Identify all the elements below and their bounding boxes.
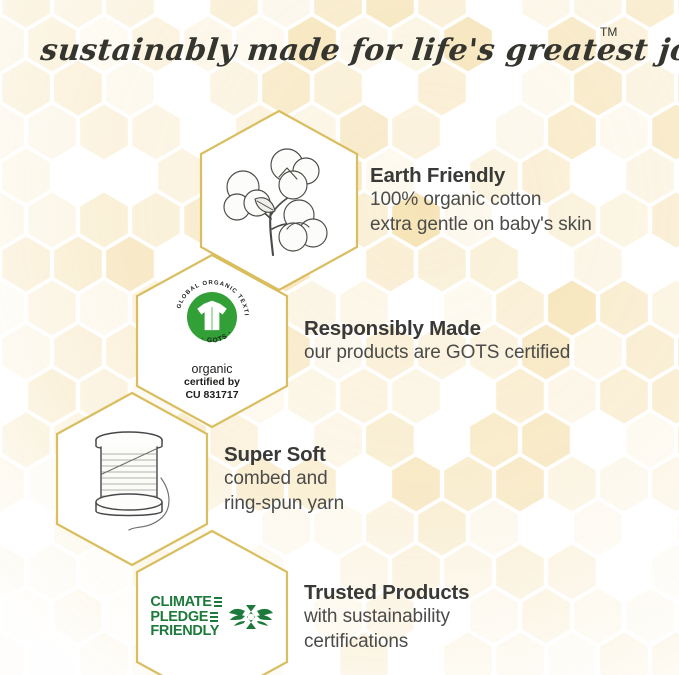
feature-line-2: ring-spun yarn	[224, 492, 344, 517]
climate-pledge-friendly-text: CLIMATE PLEDGE FRIENDLY	[150, 595, 221, 639]
cpf-line-2: PLEDGE	[150, 610, 208, 625]
trademark-symbol: TM	[600, 25, 617, 39]
marketing-infographic: sustainably made for life's greatest joy…	[0, 0, 679, 675]
feature-copy-responsibly-made: Responsibly Made our products are GOTS c…	[304, 316, 570, 366]
cpf-bars-icon	[214, 597, 222, 607]
feature-line-1: our products are GOTS certified	[304, 341, 570, 366]
feature-title: Trusted Products	[304, 580, 469, 605]
climate-pledge-friendly-icon: CLIMATE PLEDGE FRIENDLY	[150, 595, 273, 639]
feature-line-1: 100% organic cotton	[370, 188, 592, 213]
feature-line-1: with sustainability	[304, 605, 469, 630]
feature-copy-super-soft: Super Soft combed and ring-spun yarn	[224, 442, 344, 516]
page-title-text: sustainably made for life's greatest joy	[37, 33, 679, 68]
feature-line-2: certifications	[304, 630, 469, 655]
cpf-line-3: FRIENDLY	[150, 624, 219, 639]
feature-line-2: extra gentle on baby's skin	[370, 213, 592, 238]
winged-hourglass-icon	[228, 597, 274, 637]
gots-organic-label: organic	[192, 362, 233, 376]
page-title: sustainably made for life's greatest joy…	[0, 18, 679, 78]
feature-copy-earth-friendly: Earth Friendly 100% organic cotton extra…	[370, 163, 592, 237]
feature-trusted-products: CLIMATE PLEDGE FRIENDLY	[132, 528, 469, 675]
feature-line-1: combed and	[224, 467, 344, 492]
cpf-line-1: CLIMATE	[150, 595, 211, 610]
gots-seal-icon: GLOBAL ORGANIC TEXTILE STANDARD · GOTS ·	[171, 276, 253, 358]
feature-title: Responsibly Made	[304, 316, 570, 341]
feature-title: Earth Friendly	[370, 163, 592, 188]
feature-title: Super Soft	[224, 442, 344, 467]
gots-organic-certification-icon: GLOBAL ORGANIC TEXTILE STANDARD · GOTS ·…	[171, 276, 253, 402]
feature-copy-trusted-products: Trusted Products with sustainability cer…	[304, 580, 469, 654]
gots-certified-by: certified by	[184, 376, 240, 389]
hexagon-frame-trusted-products: CLIMATE PLEDGE FRIENDLY	[132, 528, 292, 675]
cpf-bars-icon	[210, 612, 218, 622]
